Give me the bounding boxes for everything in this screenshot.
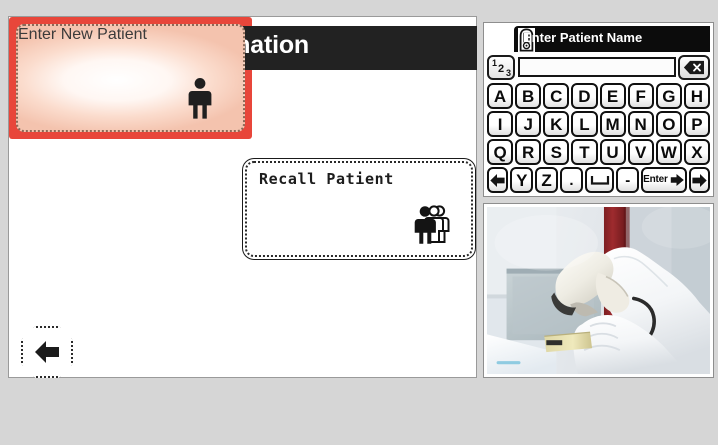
keyboard-title: Enter Patient Name xyxy=(523,30,642,45)
key-enter-label: Enter xyxy=(643,175,668,185)
numeric-digit-1: 1 xyxy=(492,58,497,68)
key-space[interactable] xyxy=(585,167,614,193)
key-k[interactable]: K xyxy=(543,111,569,137)
enter-patient-name-keyboard-panel: Enter Patient Name 1 2 3 A B C D xyxy=(483,22,714,197)
key-u[interactable]: U xyxy=(600,139,626,165)
space-icon xyxy=(590,174,610,186)
numeric-digit-3: 3 xyxy=(506,68,511,78)
enter-new-patient-button[interactable]: Enter New Patient xyxy=(9,17,252,139)
keyboard-row-3: Q R S T U V W X xyxy=(487,139,710,165)
key-l[interactable]: L xyxy=(571,111,597,137)
keyboard-input-row: 1 2 3 xyxy=(487,55,710,80)
back-button[interactable] xyxy=(21,326,73,378)
key-j[interactable]: J xyxy=(515,111,541,137)
key-o[interactable]: O xyxy=(656,111,682,137)
numeric-123-icon[interactable]: 1 2 3 xyxy=(487,55,515,80)
key-period[interactable]: . xyxy=(560,167,583,193)
left-arrow-icon xyxy=(489,173,506,188)
key-enter[interactable]: Enter xyxy=(641,167,687,193)
multiple-people-icon xyxy=(411,204,455,249)
keyboard-key-grid: A B C D E F G H I J K L M N O P Q R xyxy=(487,83,710,193)
key-g[interactable]: G xyxy=(656,83,682,109)
key-c[interactable]: C xyxy=(543,83,569,109)
enter-new-patient-surface: Enter New Patient xyxy=(16,24,245,132)
right-arrow-icon xyxy=(691,173,708,188)
key-t[interactable]: T xyxy=(571,139,597,165)
enter-new-patient-label: Enter New Patient xyxy=(18,26,243,44)
key-m[interactable]: M xyxy=(600,111,626,137)
key-r[interactable]: R xyxy=(515,139,541,165)
backspace-key[interactable] xyxy=(678,55,710,80)
left-arrow-icon xyxy=(32,339,62,365)
key-z[interactable]: Z xyxy=(535,167,558,193)
keyboard-row-4: Y Z . - Enter xyxy=(487,167,710,193)
key-f[interactable]: F xyxy=(628,83,654,109)
key-e[interactable]: E xyxy=(600,83,626,109)
key-y[interactable]: Y xyxy=(510,167,533,193)
gloved-hands-barcode-scanner-photo xyxy=(487,207,710,374)
patient-name-input[interactable] xyxy=(518,57,676,77)
key-x[interactable]: X xyxy=(684,139,710,165)
key-v[interactable]: V xyxy=(628,139,654,165)
key-i[interactable]: I xyxy=(487,111,513,137)
key-p[interactable]: P xyxy=(684,111,710,137)
key-s[interactable]: S xyxy=(543,139,569,165)
key-hyphen[interactable]: - xyxy=(616,167,639,193)
recall-patient-label: Recall Patient xyxy=(259,170,394,188)
key-q[interactable]: Q xyxy=(487,139,513,165)
patient-information-panel: Patient Information Recall Patient xyxy=(8,16,477,378)
keyboard-row-2: I J K L M N O P xyxy=(487,111,710,137)
key-d[interactable]: D xyxy=(571,83,597,109)
right-arrow-icon xyxy=(670,173,685,187)
key-a[interactable]: A xyxy=(487,83,513,109)
single-person-icon xyxy=(187,77,213,124)
recall-patient-button[interactable]: Recall Patient xyxy=(245,161,473,257)
keyboard-title-bar: Enter Patient Name xyxy=(514,26,710,52)
key-w[interactable]: W xyxy=(656,139,682,165)
key-cursor-right[interactable] xyxy=(689,167,710,193)
key-b[interactable]: B xyxy=(515,83,541,109)
key-h[interactable]: H xyxy=(684,83,710,109)
key-n[interactable]: N xyxy=(628,111,654,137)
backspace-icon xyxy=(683,60,705,75)
key-cursor-left[interactable] xyxy=(487,167,508,193)
keyboard-row-1: A B C D E F G H xyxy=(487,83,710,109)
numeric-digit-2: 2 xyxy=(498,63,504,75)
screen-root: Patient Information Recall Patient xyxy=(0,0,718,445)
instruction-photo-panel xyxy=(483,203,714,378)
